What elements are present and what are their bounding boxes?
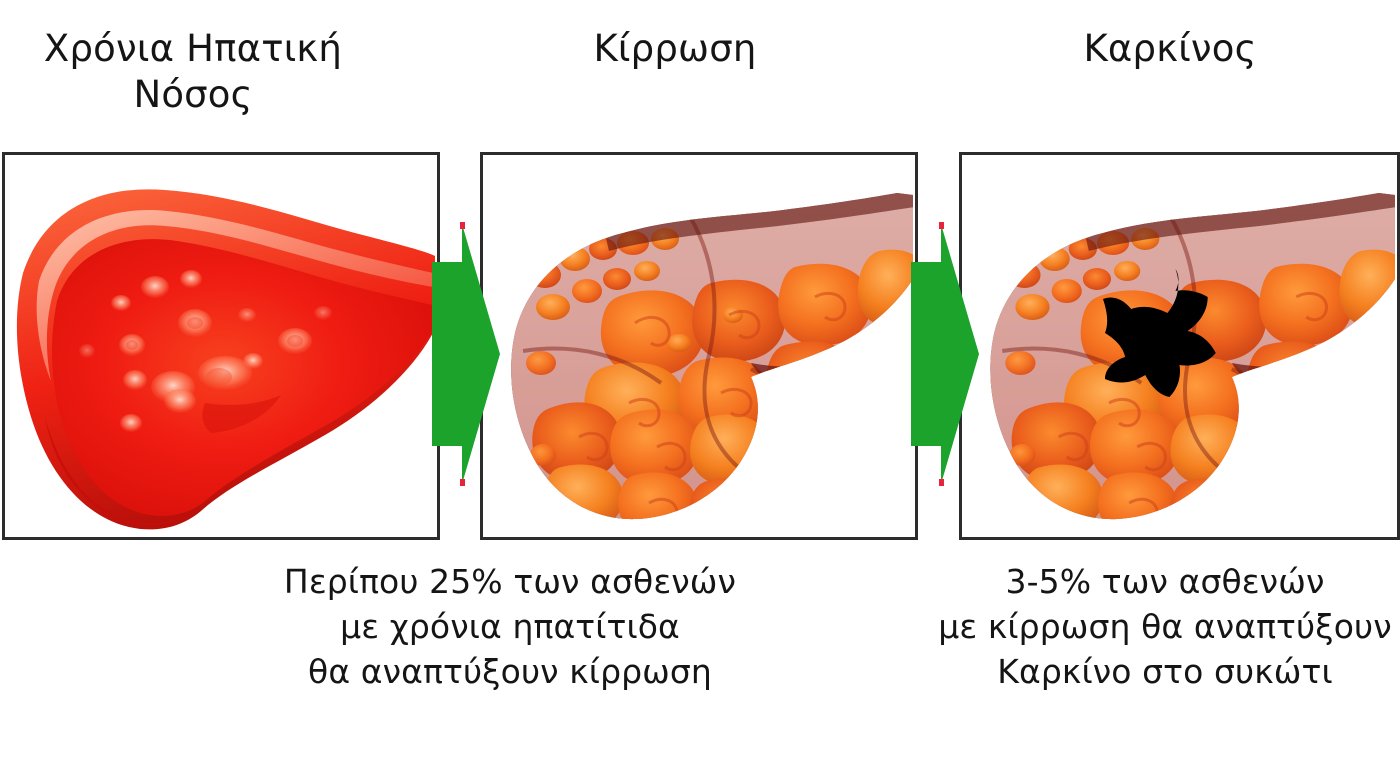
green-arrow-icon xyxy=(432,220,502,488)
arrow-body xyxy=(911,224,979,484)
caption-cancer-statistic: 3-5% των ασθενών με κίρρωση θα αναπτύξου… xyxy=(875,560,1400,695)
stage-title-cirrhosis: Κίρρωση xyxy=(505,26,845,72)
arrow-body xyxy=(432,224,500,484)
arrow-tip-accent-bottom xyxy=(939,479,944,486)
arrow-cld-to-cirrhosis xyxy=(432,220,502,488)
panel-cirrhosis xyxy=(480,152,918,540)
diagram-stage: Χρόνια Ηπατική Νόσος Κίρρωση Καρκίνος xyxy=(0,0,1400,768)
cancer-liver-illustration xyxy=(962,155,1397,537)
cirrhotic-nodule-field xyxy=(483,155,915,537)
cirrhotic-nodule-field xyxy=(962,155,1397,537)
green-arrow-icon xyxy=(911,220,981,488)
panel-cancer xyxy=(959,152,1400,540)
arrow-cirrhosis-to-cancer xyxy=(911,220,981,488)
panel-chronic-liver-disease xyxy=(2,152,440,540)
arrow-tip-accent-top xyxy=(460,222,465,229)
caption-cirrhosis-statistic: Περίπου 25% των ασθενών με χρόνια ηπατίτ… xyxy=(215,560,805,695)
cirrhotic-liver-illustration xyxy=(483,155,915,537)
illustration-cirrhotic-liver xyxy=(483,155,915,537)
healthy-liver-illustration xyxy=(5,155,437,537)
arrow-tip-accent-top xyxy=(939,222,944,229)
arrow-tip-accent-bottom xyxy=(460,479,465,486)
stage-title-cancer: Καρκίνος xyxy=(1000,26,1340,72)
illustration-healthy-liver xyxy=(5,155,437,537)
illustration-cirrhotic-liver-with-tumor xyxy=(962,155,1397,537)
stage-title-chronic-liver-disease: Χρόνια Ηπατική Νόσος xyxy=(18,26,368,117)
